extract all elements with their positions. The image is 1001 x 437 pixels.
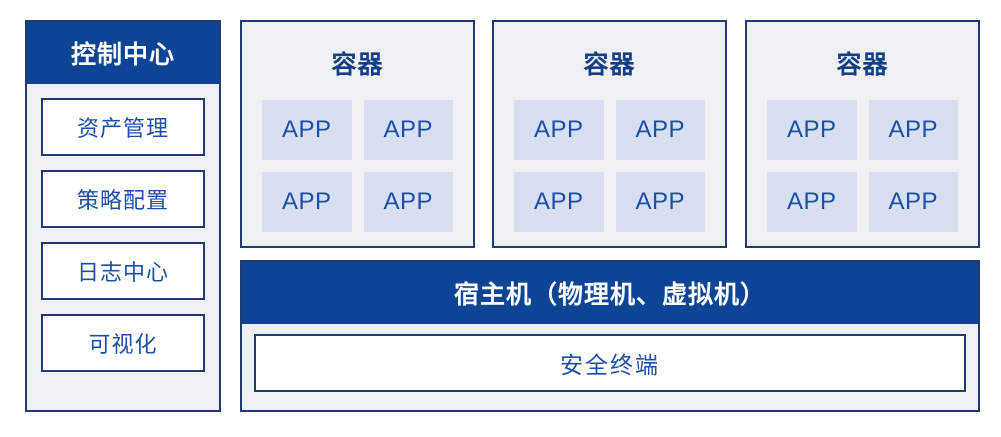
app-box[interactable]: APP [869, 100, 959, 160]
app-box[interactable]: APP [262, 172, 352, 232]
container-title-1: 容器 [242, 48, 473, 82]
app-box[interactable]: APP [616, 100, 706, 160]
app-box[interactable]: APP [767, 172, 857, 232]
container-app-grid-1: APP APP APP APP [242, 100, 473, 232]
diagram-canvas: 控制中心 资产管理 策略配置 日志中心 可视化 容器 APP APP APP A… [0, 0, 1001, 437]
control-center-header: 控制中心 [27, 22, 219, 84]
control-center-item-log-center[interactable]: 日志中心 [41, 242, 205, 300]
app-box[interactable]: APP [514, 100, 604, 160]
host-machine-body: 安全终端 [242, 324, 978, 392]
host-machine-panel: 宿主机（物理机、虚拟机） 安全终端 [240, 260, 980, 412]
control-center-panel: 控制中心 资产管理 策略配置 日志中心 可视化 [25, 20, 221, 412]
app-box[interactable]: APP [364, 100, 454, 160]
control-center-item-visualization[interactable]: 可视化 [41, 314, 205, 372]
app-box[interactable]: APP [616, 172, 706, 232]
control-center-item-list: 资产管理 策略配置 日志中心 可视化 [27, 84, 219, 372]
container-panel-1: 容器 APP APP APP APP [240, 20, 475, 248]
control-center-item-policy-config[interactable]: 策略配置 [41, 170, 205, 228]
app-box[interactable]: APP [262, 100, 352, 160]
container-title-3: 容器 [747, 48, 978, 82]
container-title-2: 容器 [494, 48, 725, 82]
control-center-item-asset-management[interactable]: 资产管理 [41, 98, 205, 156]
security-terminal-box[interactable]: 安全终端 [254, 334, 966, 392]
app-box[interactable]: APP [364, 172, 454, 232]
app-box[interactable]: APP [767, 100, 857, 160]
app-box[interactable]: APP [869, 172, 959, 232]
container-panel-2: 容器 APP APP APP APP [492, 20, 727, 248]
container-panel-3: 容器 APP APP APP APP [745, 20, 980, 248]
container-app-grid-2: APP APP APP APP [494, 100, 725, 232]
app-box[interactable]: APP [514, 172, 604, 232]
container-app-grid-3: APP APP APP APP [747, 100, 978, 232]
host-machine-header: 宿主机（物理机、虚拟机） [242, 262, 978, 324]
